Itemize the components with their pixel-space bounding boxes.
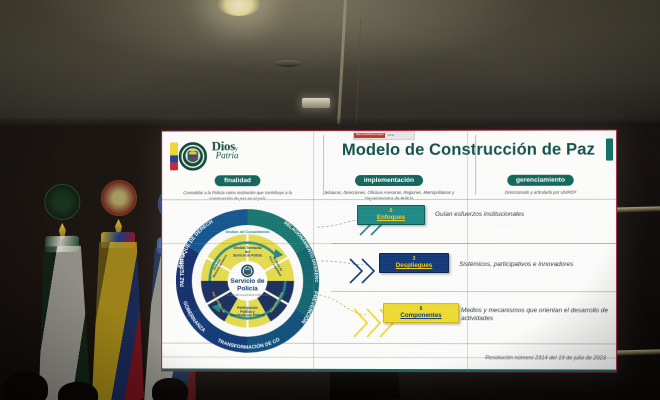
core-emblem-icon xyxy=(241,265,254,278)
slide-header: Dios y Patria Modelo de Construcción de … xyxy=(162,136,616,199)
diagram-center-title2: Policía xyxy=(237,285,258,292)
colombia-ribbon-icon xyxy=(170,142,178,170)
policia-emblem-icon xyxy=(178,141,208,171)
column-implementacion: implementación Jefaturas, Direcciones, O… xyxy=(313,169,465,201)
box-enfoques[interactable]: 6 Enfoques xyxy=(357,205,425,225)
diagram-center-title: Servicio de xyxy=(231,278,265,285)
page-title: Modelo de Construcción de Paz xyxy=(323,140,614,160)
ring-label-5: PAZ TERRITORIAL xyxy=(180,243,186,287)
divider-vertical-2 xyxy=(475,135,476,195)
pill-finalidad: finalidad xyxy=(215,175,260,186)
presentation-slide: Esta computadora protegida Cerrar xyxy=(162,130,616,371)
title-accent-tab xyxy=(606,138,613,160)
pill-implementacion: implementación xyxy=(355,175,423,186)
diagram-svg: ENFOQUE DE DERECHOS RELACIONAMIENTO DIFE… xyxy=(170,203,325,359)
brand-wordmark: Dios y Patria xyxy=(212,140,239,160)
brand-line2: Patria xyxy=(216,151,239,160)
pill-gerenciamiento: gerenciamiento xyxy=(507,175,574,186)
projection-screen: Esta computadora protegida Cerrar xyxy=(161,129,617,372)
componentes-description: Medios y mecanismos que orientan el desa… xyxy=(461,307,608,323)
slide-footer-note: Resolución número 2314 del 19 de julio d… xyxy=(485,355,606,361)
diagram-arrow-label: Gestión del Conocimiento xyxy=(225,230,270,234)
box-despliegues[interactable]: 3 Despliegues xyxy=(379,253,449,273)
chevron-despliegues xyxy=(347,255,383,287)
screen-seam-horizontal xyxy=(162,243,616,244)
column-headers: finalidad Consolidar a la Policía como i… xyxy=(162,169,616,202)
slide-footer-bar xyxy=(162,368,616,372)
column-finalidad: finalidad Consolidar a la Policía como i… xyxy=(162,169,313,201)
flag-seal-icon xyxy=(101,180,137,216)
flag-cloth xyxy=(92,242,144,400)
componentes-label: Componentes xyxy=(384,312,458,319)
enfoques-label: Enfoques xyxy=(358,214,424,221)
ceiling-light-panel xyxy=(302,98,330,108)
ceiling-light-wash xyxy=(0,0,660,128)
box-componentes[interactable]: 6 Componentes xyxy=(383,303,459,323)
diagram-center-sub: Gestión del Conocimiento Institucional xyxy=(226,294,269,297)
column-gerenciamiento: gerenciamiento Direccionado y articulado… xyxy=(465,169,616,202)
audience-head xyxy=(58,382,98,400)
screen-seam-vertical xyxy=(313,131,314,371)
audience-head xyxy=(152,378,188,400)
screen-seam-vertical-2 xyxy=(467,131,468,371)
despliegues-description: Sistémicos, participativos e innovadores xyxy=(459,261,612,269)
auditorium-scene: Esta computadora protegida Cerrar xyxy=(0,0,660,400)
ceiling-vent xyxy=(274,60,302,67)
audience-head xyxy=(4,372,48,400)
enfoques-description: Guían esfuerzos institucionales xyxy=(435,211,608,219)
gerenciamiento-text: Direccionado y articulado por UNIPEP xyxy=(465,190,616,196)
divider-vertical-1 xyxy=(323,135,324,195)
peace-model-diagram: ENFOQUE DE DERECHOS RELACIONAMIENTO DIFE… xyxy=(170,203,325,359)
despliegues-label: Despliegues xyxy=(380,262,448,269)
